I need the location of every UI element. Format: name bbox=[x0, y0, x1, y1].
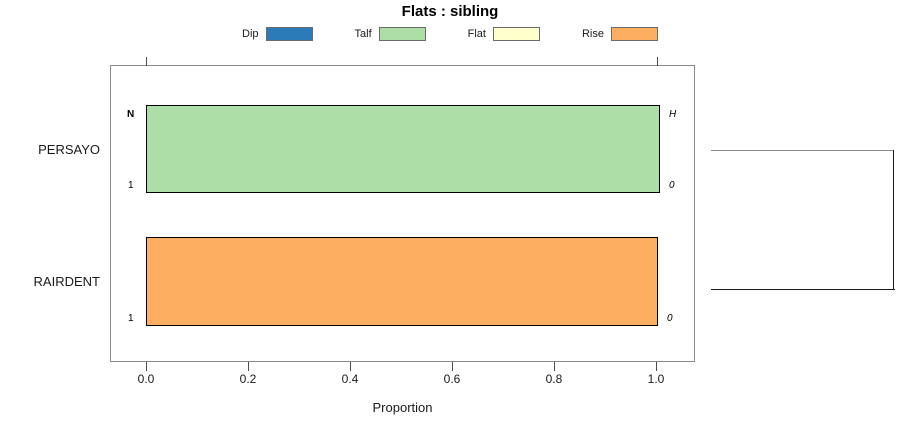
legend-gap bbox=[540, 34, 582, 35]
chart-title: Flats : sibling bbox=[0, 3, 900, 20]
legend-label-talf: Talf bbox=[355, 29, 379, 40]
side-panel-right-edge bbox=[893, 150, 894, 290]
side-panel-top-edge bbox=[711, 150, 894, 151]
bar-annotation-persayo-bottom-right: 0 bbox=[669, 181, 675, 191]
legend-label-dip: Dip bbox=[242, 29, 266, 40]
legend-item-talf: Talf bbox=[355, 25, 426, 43]
legend-item-flat: Flat bbox=[468, 25, 540, 43]
bar-rairdent-rise[interactable] bbox=[146, 237, 658, 326]
empty-side-panel bbox=[711, 150, 894, 290]
legend-gap bbox=[313, 34, 355, 35]
bar-persayo-talf[interactable] bbox=[146, 105, 660, 193]
x-ticklabel-3: 0.6 bbox=[422, 373, 482, 385]
top-tick-1 bbox=[657, 57, 658, 66]
legend-swatch-talf bbox=[379, 27, 426, 41]
x-axis: 0.0 0.2 0.4 0.6 0.8 1.0 bbox=[110, 362, 695, 363]
chart-legend: Dip Talf Flat Rise bbox=[0, 25, 900, 43]
x-tick-1 bbox=[248, 362, 249, 371]
bar-annotation-persayo-bottom-left: 1 bbox=[128, 181, 134, 191]
x-tick-5 bbox=[656, 362, 657, 371]
x-ticklabel-5: 1.0 bbox=[626, 373, 686, 385]
side-panel-bottom-edge bbox=[711, 289, 895, 290]
row-label-persayo: PERSAYO bbox=[0, 143, 100, 156]
x-tick-4 bbox=[554, 362, 555, 371]
x-axis-label: Proportion bbox=[0, 401, 805, 414]
x-ticklabel-1: 0.2 bbox=[218, 373, 278, 385]
x-tick-3 bbox=[452, 362, 453, 371]
bar-annotation-rairdent-bottom-left: 1 bbox=[128, 314, 134, 324]
plot-panel: N H 1 0 1 0 bbox=[110, 65, 695, 362]
bar-annotation-persayo-top-left: N bbox=[127, 110, 134, 120]
legend-swatch-rise bbox=[611, 27, 658, 41]
x-tick-2 bbox=[350, 362, 351, 371]
legend-item-rise: Rise bbox=[582, 25, 658, 43]
legend-swatch-dip bbox=[266, 27, 313, 41]
legend-label-flat: Flat bbox=[468, 29, 493, 40]
bar-annotation-persayo-top-right: H bbox=[669, 110, 676, 120]
top-tick-0 bbox=[146, 57, 147, 66]
legend-gap bbox=[426, 34, 468, 35]
legend-item-dip: Dip bbox=[242, 25, 313, 43]
x-ticklabel-4: 0.8 bbox=[524, 373, 584, 385]
x-ticklabel-2: 0.4 bbox=[320, 373, 380, 385]
legend-label-rise: Rise bbox=[582, 29, 611, 40]
legend-swatch-flat bbox=[493, 27, 540, 41]
bar-annotation-rairdent-bottom-right: 0 bbox=[667, 314, 673, 324]
row-label-rairdent: RAIRDENT bbox=[0, 275, 100, 288]
x-ticklabel-0: 0.0 bbox=[116, 373, 176, 385]
x-tick-0 bbox=[146, 362, 147, 371]
